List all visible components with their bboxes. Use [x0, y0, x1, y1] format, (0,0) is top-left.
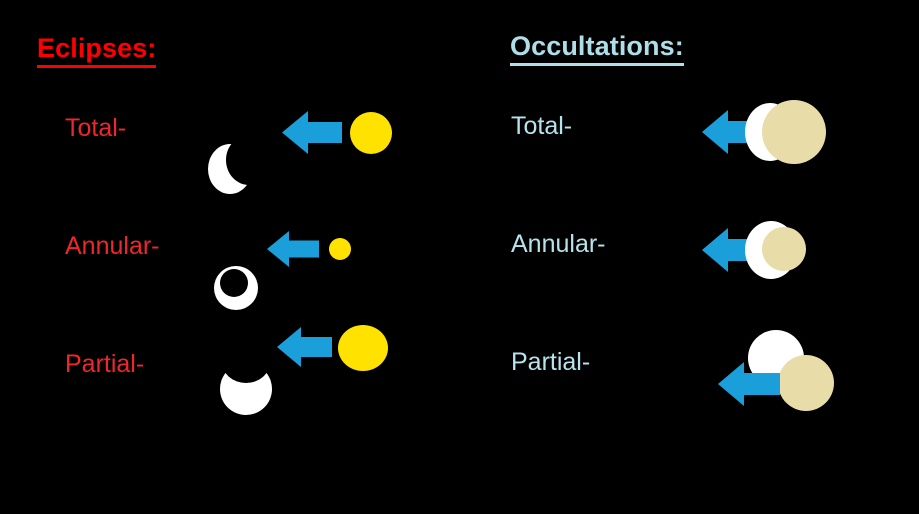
slide-canvas: Eclipses: Occultations: Total- Annular- …: [0, 0, 919, 514]
star-disc-partial-occultation: [778, 355, 834, 411]
diagram-partial-occultation: [0, 0, 919, 514]
left-arrow-icon-partial-occultation: [718, 362, 780, 406]
